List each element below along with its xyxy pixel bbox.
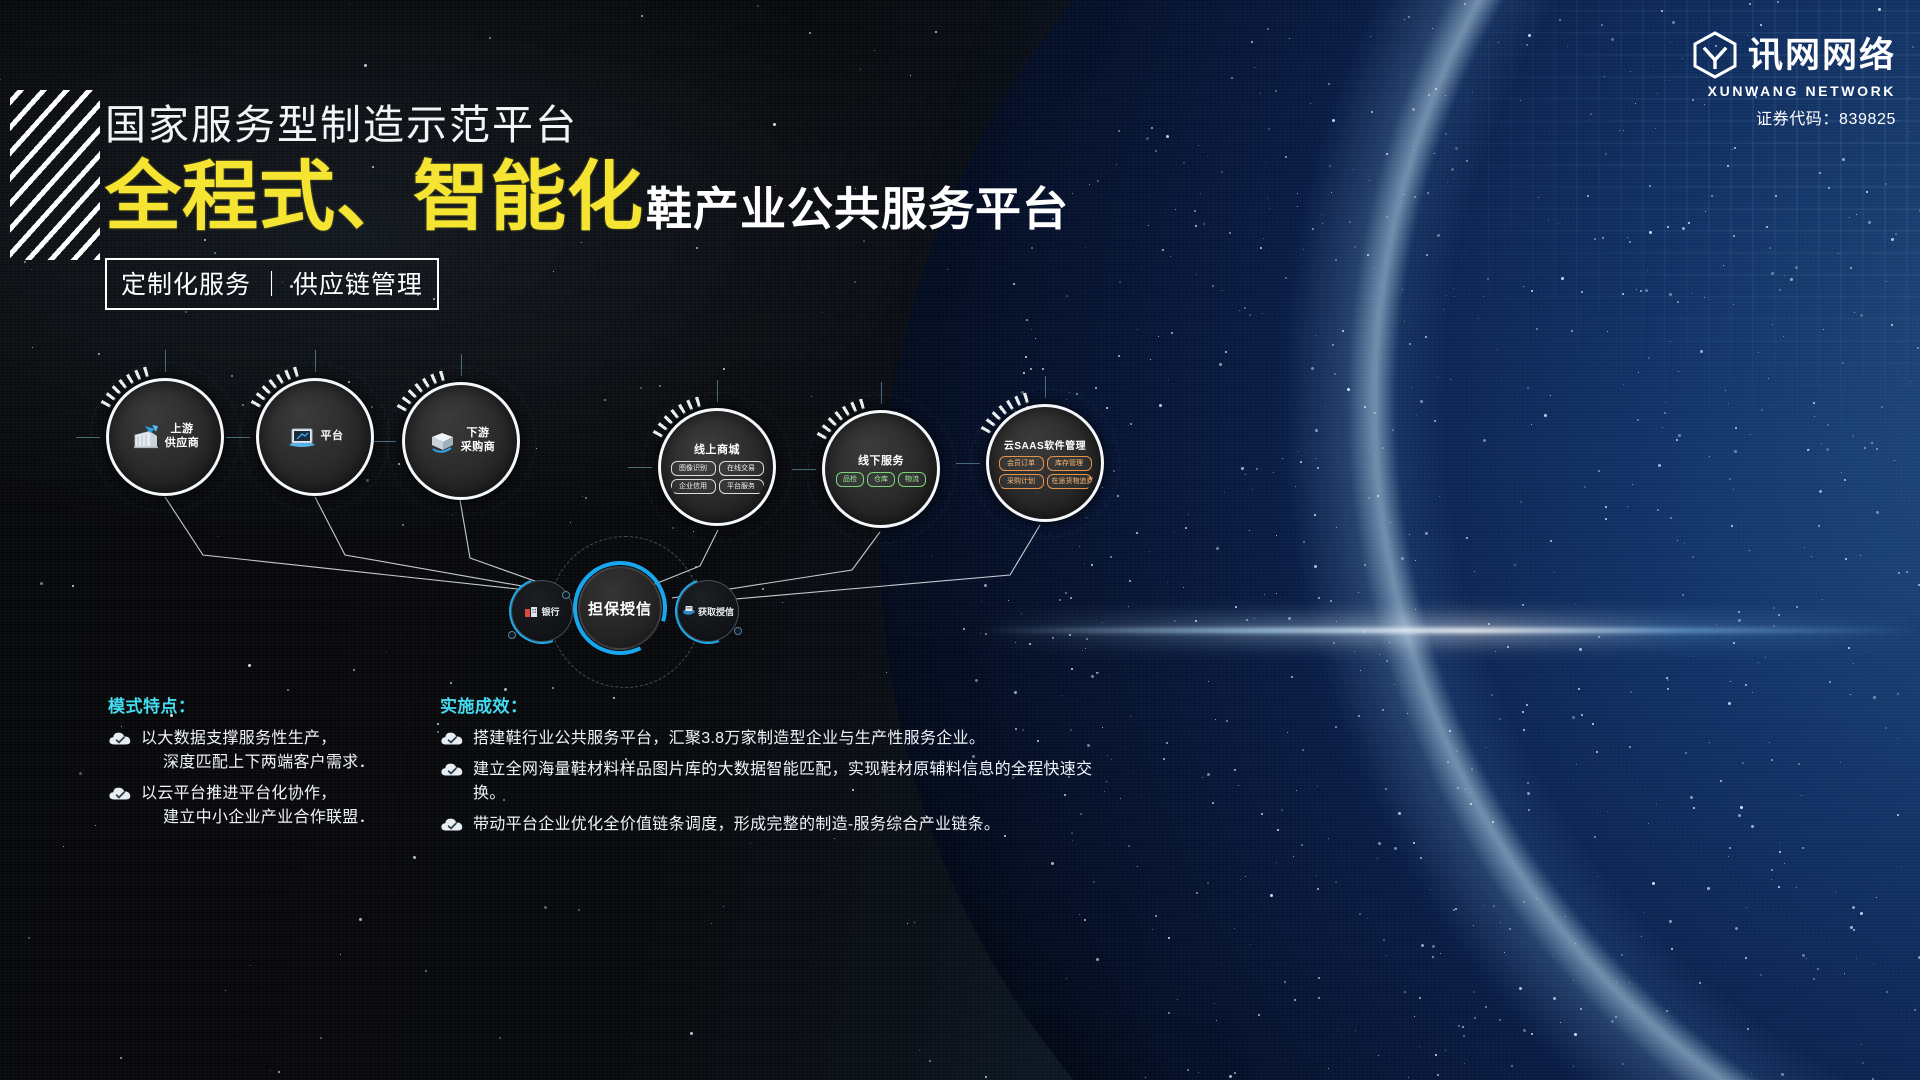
poster-canvas: 国家服务型制造示范平台 全程式、智能化 鞋产业公共服务平台 定制化服务 ｜ 供应… [0,0,1920,1080]
node-title: 线下服务 [858,452,904,468]
node-label: 平台 [321,430,344,444]
list-item: 以云平台推进平台化协作， 建立中小企业产业合作联盟． [108,782,408,830]
list-item-text: 建立全网海量鞋材料样品图片库的大数据智能匹配，实现鞋材原辅料信息的全程快速交换。 [473,758,1120,806]
pill-enterprise-credit[interactable]: 企业信用 [671,479,716,494]
stock-code: 证券代码：839825 [1690,105,1896,129]
hexagon-arrow-logo-icon [1690,30,1740,80]
node-pill-group: 图像识别 在线交易 企业信用 平台服务 [669,461,765,494]
node-title: 云SAAS软件管理 [1004,437,1086,452]
cloud-check-icon [440,816,464,833]
finance-cluster: 银行 担保授信 获取授信 [505,562,745,662]
list-item: 以大数据支撑服务性生产， 深度匹配上下两端客户需求． [108,727,408,775]
pill-online-trade[interactable]: 在线交易 [719,461,764,476]
factory-icon [131,423,161,451]
finance-node-bank[interactable]: 银行 [511,580,573,642]
node-content: 线上商城 图像识别 在线交易 企业信用 平台服务 [667,417,767,517]
node-pill-group: 品检 仓库 物流 [833,472,929,487]
list-item: 带动平台企业优化全价值链条调度，形成完整的制造-服务综合产业链条。 [440,813,1120,837]
node-downstream-buyer[interactable]: 下游 采购商 [402,382,520,500]
list-item: 建立全网海量鞋材料样品图片库的大数据智能匹配，实现鞋材原辅料信息的全程快速交换。 [440,758,1120,806]
node-content: 上游 供应商 [115,387,215,487]
list-item-text: 带动平台企业优化全价值链条调度，形成完整的制造-服务综合产业链条。 [473,813,1000,837]
logo-name-cn: 讯网网络 [1748,38,1896,73]
node-content: 下游 采购商 [411,391,511,491]
column-mode-features: 模式特点： 以大数据支撑服务性生产， 深度匹配上下两端客户需求． [108,692,408,837]
node-content: 线下服务 品检 仓库 物流 [831,419,931,519]
node-upstream-supplier[interactable]: 上游 供应商 [106,378,224,496]
pill-warehouse[interactable]: 仓库 [867,472,895,487]
node-cloud-saas[interactable]: 云SAAS软件管理 会员订单 库存管理 采购计划 在途货物追费 [986,404,1104,522]
node-pill-group: 会员订单 库存管理 采购计划 在途货物追费 [997,456,1093,489]
list-item-text: 以云平台推进平台化协作， 建立中小企业产业合作联盟． [141,782,375,830]
orbit-dot-icon [562,591,570,599]
column-implementation-results: 实施成效： 搭建鞋行业公共服务平台，汇聚3.8万家制造型企业与生产性服务企业。 … [440,692,1120,844]
laptop-icon [287,423,317,451]
cloud-check-icon [108,785,132,802]
pill-image-recognition[interactable]: 图像识别 [671,461,716,476]
node-content: 平台 [265,387,365,487]
node-label: 上游 供应商 [165,423,200,451]
orbit-dot-icon [508,631,516,639]
node-content: 云SAAS软件管理 会员订单 库存管理 采购计划 在途货物追费 [995,413,1095,513]
cloud-check-icon [108,730,132,747]
pill-platform-service[interactable]: 平台服务 [719,479,764,494]
column-heading: 实施成效： [440,692,1120,717]
node-title: 线上商城 [694,441,740,457]
cloud-check-icon [440,761,464,778]
orbit-dot-icon [734,627,742,635]
finance-node-obtain-credit[interactable]: 获取授信 [677,580,739,642]
pill-member-orders[interactable]: 会员订单 [999,456,1044,471]
node-offline-service[interactable]: 线下服务 品检 仓库 物流 [822,410,940,528]
finance-node-guarantee-credit[interactable]: 担保授信 [578,566,662,650]
pill-purchase-plan[interactable]: 采购计划 [999,474,1044,489]
node-platform[interactable]: 平台 [256,378,374,496]
pill-quality-inspection[interactable]: 品检 [836,472,864,487]
node-online-mall[interactable]: 线上商城 图像识别 在线交易 企业信用 平台服务 [658,408,776,526]
package-box-icon [427,427,457,455]
pill-inventory-management[interactable]: 库存管理 [1047,456,1092,471]
node-label: 下游 采购商 [461,427,496,455]
list-item-text: 搭建鞋行业公共服务平台，汇聚3.8万家制造型企业与生产性服务企业。 [473,727,985,751]
column-heading: 模式特点： [108,692,408,717]
list-item: 搭建鞋行业公共服务平台，汇聚3.8万家制造型企业与生产性服务企业。 [440,727,1120,751]
pill-logistics[interactable]: 物流 [898,472,926,487]
cloud-check-icon [440,730,464,747]
pill-in-transit-tracking[interactable]: 在途货物追费 [1047,474,1092,489]
logo-name-en: XUNWANG NETWORK [1690,83,1896,99]
logo-lockup: 讯网网络 [1690,30,1896,80]
brand-logo: 讯网网络 XUNWANG NETWORK 证券代码：839825 [1690,30,1896,129]
list-item-text: 以大数据支撑服务性生产， 深度匹配上下两端客户需求． [141,727,375,775]
